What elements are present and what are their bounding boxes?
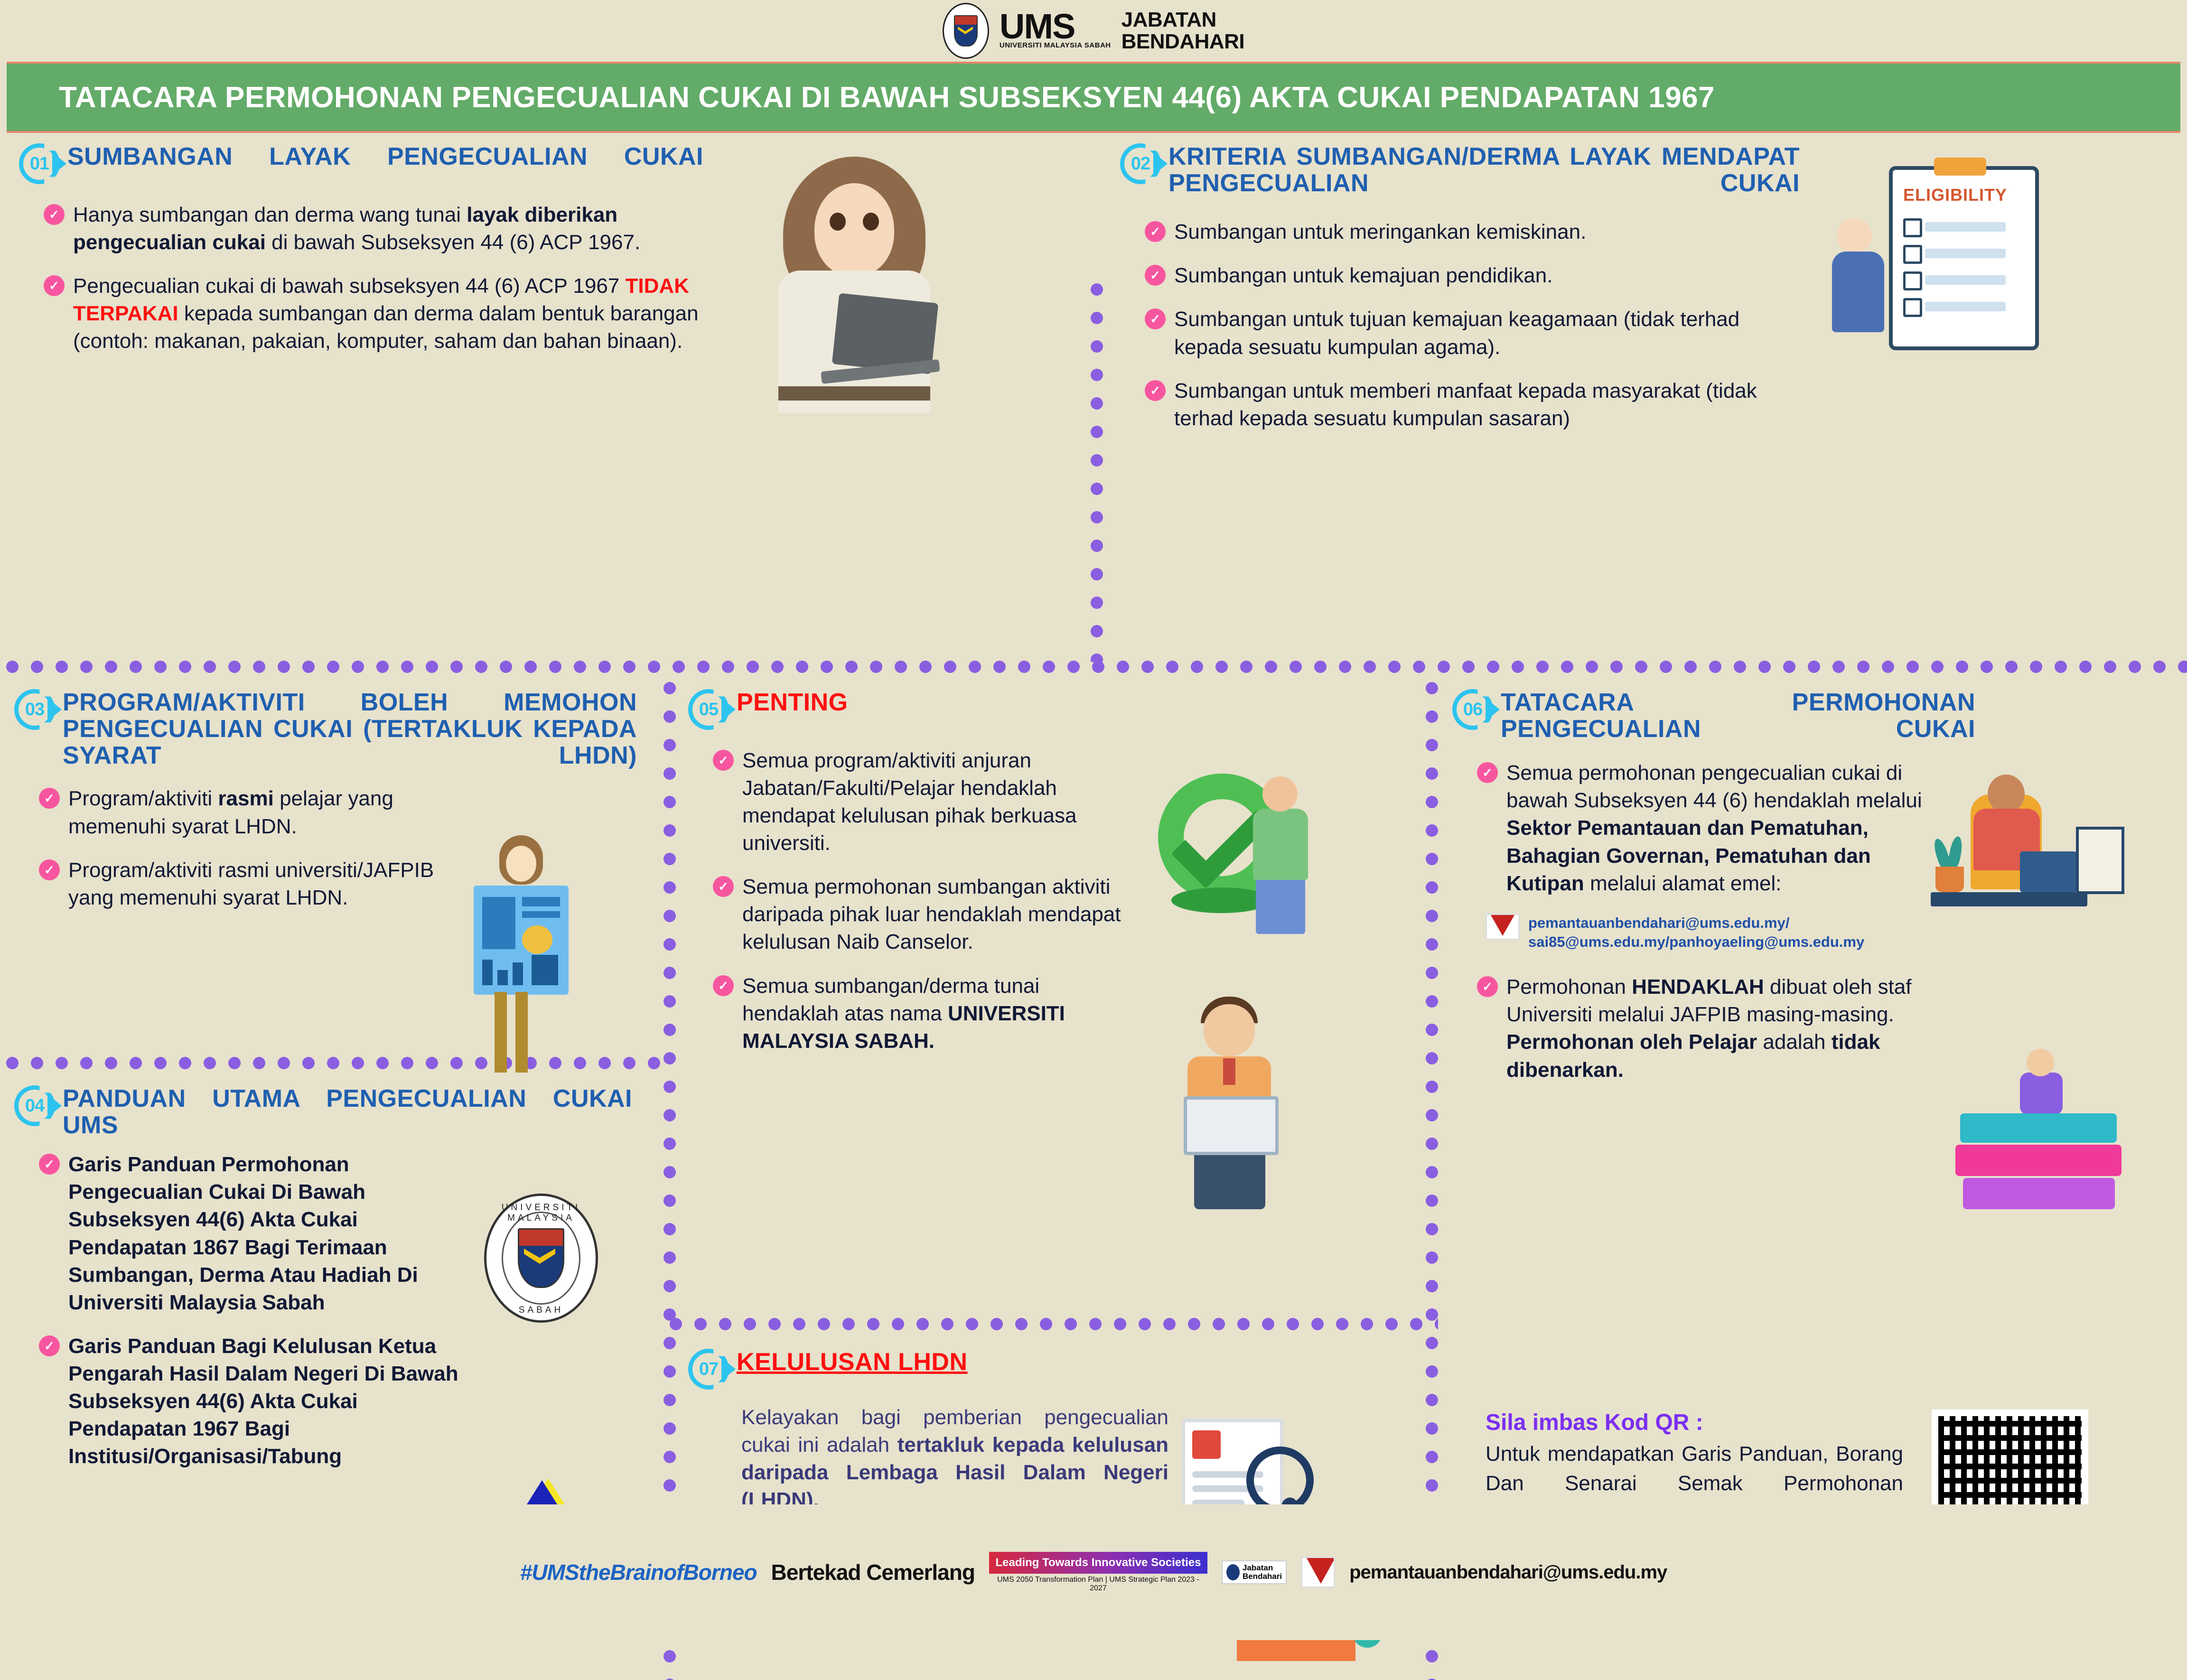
brand-header: UMS UNIVERSITI MALAYSIA SABAH JABATAN BE… bbox=[0, 0, 2187, 62]
divider-horizontal-top bbox=[0, 661, 2187, 673]
list-item: ✓ Program/aktiviti rasmi pelajar yang me… bbox=[39, 785, 452, 840]
section-06-title: TATACARA PERMOHONAN PENGECUALIAN CUKAI bbox=[1501, 689, 1975, 742]
section-05: 05 PENTING ✓ Semua program/aktiviti anju… bbox=[688, 688, 1414, 1071]
step-number-07: 07 bbox=[688, 1349, 729, 1390]
check-icon: ✓ bbox=[39, 1335, 60, 1356]
list-item: ✓ Sumbangan untuk memberi manfaat kepada… bbox=[1145, 377, 1809, 432]
check-icon: ✓ bbox=[39, 1154, 60, 1175]
section-01: 01 SUMBANGAN LAYAK PENGECUALIAN CUKAI ✓ … bbox=[19, 142, 1077, 371]
bullet-text: Semua permohonan sumbangan aktiviti dari… bbox=[742, 875, 1121, 953]
check-icon: ✓ bbox=[713, 750, 734, 771]
list-item: ✓ Semua sumbangan/derma tunai hendaklah … bbox=[713, 972, 1140, 1055]
section-04-bullets: ✓ Garis Panduan Permohonan Pengecualian … bbox=[39, 1151, 461, 1470]
check-icon: ✓ bbox=[1145, 265, 1166, 286]
department-line-2: BENDAHARI bbox=[1122, 31, 1245, 53]
step-number-01: 01 bbox=[19, 143, 60, 184]
section-03: 03 PROGRAM/AKTIVITI BOLEH MEMOHON PENGEC… bbox=[14, 688, 650, 928]
list-item: ✓ Program/aktiviti rasmi universiti/JAFP… bbox=[39, 857, 452, 912]
section-02-title: KRITERIA SUMBANGAN/DERMA LAYAK MENDAPAT … bbox=[1168, 143, 1800, 196]
illustration-woman-laptop bbox=[764, 152, 1058, 513]
section-07: 07 KELULUSAN LHDN Kelayakan bagi pemberi… bbox=[688, 1348, 1414, 1514]
section-06-bullets-2: ✓ Permohonan HENDAKLAH dibuat oleh staf … bbox=[1477, 973, 1923, 1083]
ums-crest-icon bbox=[943, 3, 989, 59]
step-number-badge-03: 03 bbox=[14, 689, 55, 730]
step-number-06: 06 bbox=[1452, 689, 1493, 730]
bullet-text: Hanya sumbangan dan derma wang tunai lay… bbox=[73, 203, 640, 254]
bullet-text: Program/aktiviti rasmi universiti/JAFPIB… bbox=[68, 859, 434, 909]
section-04-header: 04 PANDUAN UTAMA PENGECUALIAN CUKAI UMS bbox=[14, 1084, 650, 1139]
check-icon: ✓ bbox=[713, 876, 734, 897]
list-item: ✓ Garis Panduan Bagi Kelulusan Ketua Pen… bbox=[39, 1333, 461, 1470]
section-02: 02 KRITERIA SUMBANGAN/DERMA LAYAK MENDAP… bbox=[1120, 142, 2169, 448]
step-number-badge-07: 07 bbox=[688, 1349, 729, 1390]
infographic-body: 01 SUMBANGAN LAYAK PENGECUALIAN CUKAI ✓ … bbox=[0, 133, 2187, 1637]
gmail-icon bbox=[1486, 914, 1520, 940]
department-name: JABATAN BENDAHARI bbox=[1122, 9, 1245, 53]
section-06: 06 TATACARA PERMOHONAN PENGECUALIAN CUKA… bbox=[1452, 688, 2174, 1100]
check-icon: ✓ bbox=[1145, 221, 1166, 242]
section-04: 04 PANDUAN UTAMA PENGECUALIAN CUKAI UMS … bbox=[14, 1084, 650, 1486]
check-icon: ✓ bbox=[1477, 976, 1498, 997]
illustration-green-check bbox=[1144, 769, 1362, 968]
email-row[interactable]: pemantauanbendahari@ums.edu.my/ sai85@um… bbox=[1486, 914, 1932, 952]
check-icon: ✓ bbox=[713, 975, 734, 996]
page-title-banner: TATACARA PERMOHONAN PENGECUALIAN CUKAI D… bbox=[7, 62, 2180, 133]
section-07-body: Kelayakan bagi pemberian pengecualian cu… bbox=[741, 1404, 1168, 1514]
gmail-icon bbox=[1301, 1557, 1335, 1588]
step-number-badge-01: 01 bbox=[19, 143, 60, 184]
footer-strip-title: Leading Towards Innovative Societies bbox=[989, 1552, 1207, 1574]
ums-university-name: UNIVERSITI MALAYSIA SABAH bbox=[1000, 41, 1111, 49]
section-07-title: KELULUSAN LHDN bbox=[737, 1349, 968, 1375]
list-item: ✓ Semua program/aktiviti anjuran Jabatan… bbox=[713, 747, 1140, 857]
page-footer: #UMStheBrainofBorneo Bertekad Cemerlang … bbox=[0, 1504, 2187, 1640]
qr-heading: Sila imbas Kod QR : bbox=[1486, 1409, 1903, 1436]
list-item: ✓ Sumbangan untuk kemajuan pendidikan. bbox=[1145, 262, 1809, 289]
step-number-badge-05: 05 bbox=[688, 689, 729, 730]
list-item: ✓ Semua permohonan sumbangan aktiviti da… bbox=[713, 873, 1140, 956]
section-03-header: 03 PROGRAM/AKTIVITI BOLEH MEMOHON PENGEC… bbox=[14, 688, 650, 769]
list-item: ✓ Permohonan HENDAKLAH dibuat oleh staf … bbox=[1477, 973, 1923, 1083]
step-number-badge-04: 04 bbox=[14, 1085, 55, 1126]
section-03-bullets: ✓ Program/aktiviti rasmi pelajar yang me… bbox=[39, 785, 452, 911]
bullet-text: Semua permohonan pengecualian cukai di b… bbox=[1506, 761, 1922, 895]
check-icon: ✓ bbox=[1477, 762, 1498, 783]
section-06-bullets: ✓ Semua permohonan pengecualian cukai di… bbox=[1477, 759, 1923, 897]
email-addresses[interactable]: pemantauanbendahari@ums.edu.my/ sai85@um… bbox=[1528, 914, 1932, 952]
section-01-header: 01 SUMBANGAN LAYAK PENGECUALIAN CUKAI bbox=[19, 142, 1077, 184]
list-item: ✓ Garis Panduan Permohonan Pengecualian … bbox=[39, 1151, 461, 1316]
bullet-text: Sumbangan untuk meringankan kemiskinan. bbox=[1174, 220, 1586, 243]
section-02-bullets: ✓ Sumbangan untuk meringankan kemiskinan… bbox=[1145, 218, 1809, 432]
bullet-text: Sumbangan untuk tujuan kemajuan keagamaa… bbox=[1174, 308, 1739, 358]
illustration-office-woman bbox=[1927, 764, 2136, 921]
section-05-header: 05 PENTING bbox=[688, 688, 1414, 730]
list-item: ✓ Hanya sumbangan dan derma wang tunai l… bbox=[44, 201, 751, 256]
bullet-text: Permohonan HENDAKLAH dibuat oleh staf Un… bbox=[1506, 975, 1912, 1081]
ums-wordmark: UMS UNIVERSITI MALAYSIA SABAH bbox=[1000, 12, 1111, 49]
check-icon: ✓ bbox=[39, 788, 60, 809]
footer-strategic-plan: Leading Towards Innovative Societies UMS… bbox=[989, 1552, 1207, 1593]
list-item: ✓ Pengecualian cukai di bawah subseksyen… bbox=[44, 272, 751, 355]
illustration-book-stack bbox=[1955, 1049, 2136, 1229]
footer-email: pemantauanbendahari@ums.edu.my bbox=[1349, 1562, 1667, 1583]
footer-badge-line-1: Jabatan bbox=[1243, 1564, 1282, 1572]
step-number-05: 05 bbox=[688, 689, 729, 730]
ums-crest-logo: UNIVERSITI MALAYSIA SABAH bbox=[484, 1194, 598, 1323]
bullet-text: Pengecualian cukai di bawah subseksyen 4… bbox=[73, 274, 699, 353]
check-icon: ✓ bbox=[44, 204, 65, 225]
illustration-woman-chart-board bbox=[456, 835, 617, 1073]
check-icon: ✓ bbox=[39, 859, 60, 880]
section-06-header: 06 TATACARA PERMOHONAN PENGECUALIAN CUKA… bbox=[1452, 688, 2174, 742]
bullet-text: Sumbangan untuk kemajuan pendidikan. bbox=[1174, 264, 1552, 287]
step-number-badge-06: 06 bbox=[1452, 689, 1493, 730]
illustration-boy-reading bbox=[1158, 992, 1348, 1224]
illustration-eligibility-clipboard: ELIGIBILITY bbox=[1832, 147, 2088, 479]
list-item: ✓ Semua permohonan pengecualian cukai di… bbox=[1477, 759, 1923, 897]
check-icon: ✓ bbox=[44, 275, 65, 296]
section-07-header: 07 KELULUSAN LHDN bbox=[688, 1348, 1414, 1390]
check-icon: ✓ bbox=[1145, 308, 1166, 329]
divider-horizontal-left bbox=[0, 1057, 670, 1069]
bullet-text: Semua program/aktiviti anjuran Jabatan/F… bbox=[742, 749, 1076, 855]
section-01-bullets: ✓ Hanya sumbangan dan derma wang tunai l… bbox=[44, 201, 751, 355]
ums-mini-crest-icon bbox=[1226, 1564, 1240, 1580]
bullet-text: Sumbangan untuk memberi manfaat kepada m… bbox=[1174, 379, 1757, 430]
section-05-title: PENTING bbox=[737, 689, 848, 716]
divider-horizontal-middle bbox=[664, 1318, 1438, 1330]
list-item: ✓ Sumbangan untuk tujuan kemajuan keagam… bbox=[1145, 306, 1809, 361]
section-01-title: SUMBANGAN LAYAK PENGECUALIAN CUKAI bbox=[67, 143, 703, 170]
ums-acronym: UMS bbox=[1000, 12, 1111, 41]
step-number-badge-02: 02 bbox=[1120, 143, 1161, 184]
footer-hashtag: #UMStheBrainofBorneo bbox=[520, 1559, 757, 1585]
check-icon: ✓ bbox=[1145, 380, 1166, 401]
divider-vertical-top bbox=[1091, 275, 1103, 662]
bullet-text: Semua sumbangan/derma tunai hendaklah at… bbox=[742, 974, 1065, 1053]
step-number-03: 03 bbox=[14, 689, 55, 730]
page-title: TATACARA PERMOHONAN PENGECUALIAN CUKAI D… bbox=[59, 81, 1715, 114]
bullet-text: Program/aktiviti rasmi pelajar yang meme… bbox=[68, 787, 393, 838]
section-03-title: PROGRAM/AKTIVITI BOLEH MEMOHON PENGECUAL… bbox=[63, 689, 637, 769]
department-line-1: JABATAN bbox=[1122, 9, 1245, 31]
step-number-02: 02 bbox=[1120, 143, 1161, 184]
footer-badge-line-2: Bendahari bbox=[1243, 1572, 1282, 1581]
list-item: ✓ Sumbangan untuk meringankan kemiskinan… bbox=[1145, 218, 1809, 246]
bullet-text: Garis Panduan Bagi Kelulusan Ketua Penga… bbox=[68, 1335, 458, 1468]
section-04-title: PANDUAN UTAMA PENGECUALIAN CUKAI UMS bbox=[63, 1085, 632, 1139]
section-02-header: 02 KRITERIA SUMBANGAN/DERMA LAYAK MENDAP… bbox=[1120, 142, 2169, 196]
footer-strip-caption: UMS 2050 Transformation Plan | UMS Strat… bbox=[989, 1576, 1207, 1593]
step-number-04: 04 bbox=[14, 1085, 55, 1126]
bullet-text: Garis Panduan Permohonan Pengecualian Cu… bbox=[68, 1153, 418, 1314]
footer-tagline: Bertekad Cemerlang bbox=[771, 1559, 975, 1585]
footer-department-badge: Jabatan Bendahari bbox=[1222, 1560, 1287, 1584]
section-05-bullets: ✓ Semua program/aktiviti anjuran Jabatan… bbox=[713, 747, 1140, 1055]
